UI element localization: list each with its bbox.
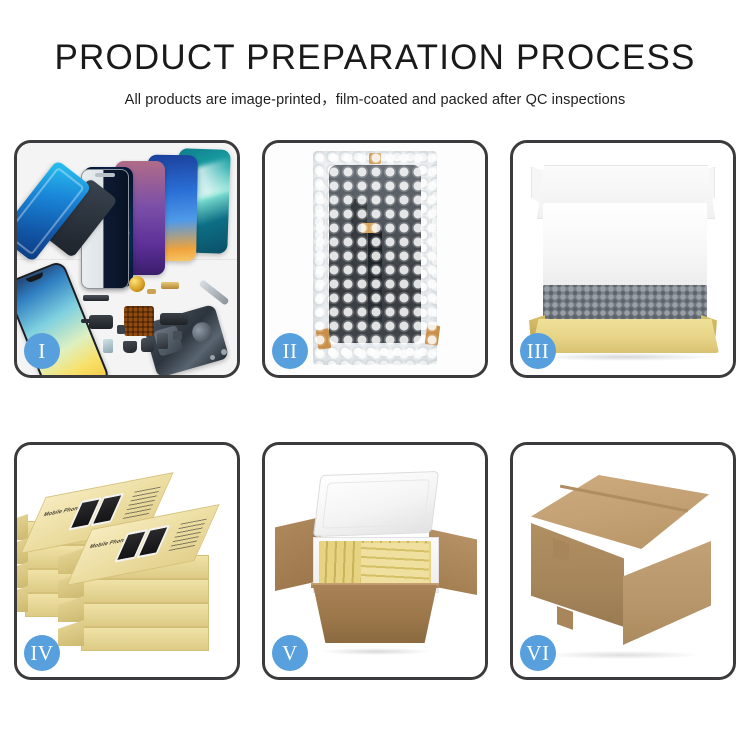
process-panel-1: I — [14, 140, 240, 378]
screen-flex-cable — [368, 229, 382, 325]
process-panel-4: Mobile Phone Spare Parts Mobile Phone Sp… — [14, 442, 240, 680]
sim-tray-part — [103, 339, 113, 353]
process-panel-3: III — [510, 140, 736, 378]
screw-part-2 — [210, 355, 215, 360]
earpiece-bar-part — [83, 295, 109, 301]
battery-connector-part — [157, 333, 168, 349]
camera-module-part — [123, 341, 137, 353]
speaker-module-part — [129, 276, 145, 292]
box-side — [17, 514, 28, 540]
vibrator-part — [141, 338, 154, 352]
foam-lid — [313, 471, 439, 537]
box-wall-front — [531, 319, 719, 353]
tape-bottom-right — [425, 324, 441, 346]
gold-connector-part — [161, 282, 179, 289]
stack-box-front-3 — [81, 603, 209, 627]
step-badge: VI — [520, 635, 556, 671]
shipping-carton-shadow — [547, 651, 697, 659]
stack-box-front-4 — [81, 627, 209, 651]
small-bracket-part — [173, 331, 182, 340]
flex-cable-left-part — [89, 315, 113, 329]
step-badge: II — [272, 333, 308, 369]
glass-notch — [95, 173, 115, 177]
step-badge: IV — [24, 635, 60, 671]
gold-connector-small-part — [147, 289, 156, 294]
carton-front-wall — [313, 585, 437, 643]
box-shadow — [537, 353, 713, 361]
carton-shadow — [321, 648, 431, 655]
page-subtitle: All products are image-printed，film-coat… — [0, 75, 750, 109]
grey-foam-insert — [543, 285, 707, 323]
step-badge: I — [24, 333, 60, 369]
page-header: PRODUCT PREPARATION PROCESS All products… — [0, 0, 750, 125]
process-panel-5: V — [262, 442, 488, 680]
small-chip-part — [117, 325, 125, 334]
phone-notch — [26, 272, 45, 283]
process-panel-grid: I II III — [14, 140, 736, 680]
tape-top — [369, 153, 381, 164]
tape-middle — [361, 223, 377, 233]
screw-grid-part — [124, 306, 154, 336]
page-title: PRODUCT PREPARATION PROCESS — [0, 0, 750, 75]
packed-yellow-boxes-row-2 — [361, 543, 429, 583]
flex-cable-right-part — [160, 313, 188, 325]
process-panel-2: II — [262, 140, 488, 378]
box-side — [17, 562, 28, 588]
step-badge: V — [272, 635, 308, 671]
white-foam-back — [543, 203, 707, 289]
box-side — [17, 586, 28, 612]
tape-bottom-left — [316, 328, 332, 350]
process-panel-6: VI — [510, 442, 736, 680]
step-badge: III — [520, 333, 556, 369]
screw-part-1 — [221, 349, 227, 355]
stack-box-front-2 — [81, 579, 209, 603]
